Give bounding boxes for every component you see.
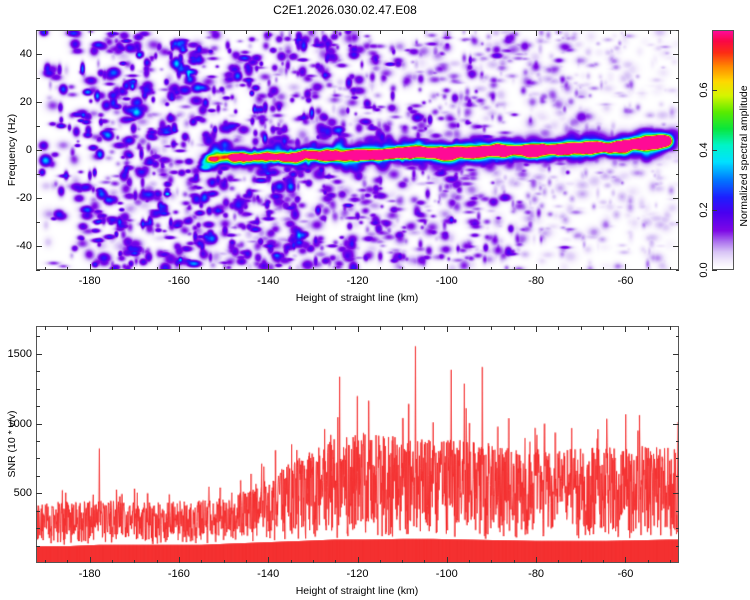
spectrogram-ylabel: Frequency (Hz) — [6, 114, 18, 186]
x-tick-minor — [402, 267, 403, 271]
x-tick-minor-top — [67, 30, 68, 34]
x-tick-minor-top — [134, 30, 135, 34]
y-tick-minor-right — [676, 476, 680, 477]
y-tick-major-right — [673, 246, 679, 247]
y-tick-minor — [36, 406, 40, 407]
x-tick-major — [625, 557, 626, 563]
snr-panel — [36, 326, 679, 563]
y-tick-minor — [36, 441, 40, 442]
x-tick-label: -140 — [257, 568, 279, 580]
x-tick-minor-top — [581, 30, 582, 34]
x-tick-minor-top — [67, 326, 68, 330]
colorbar-label: Normalized spectral amplitude — [738, 85, 750, 226]
figure-root: C2E1.2026.030.02.47.E08 -180-160-140-120… — [0, 0, 750, 600]
colorbar-tick-label: 0.2 — [698, 202, 710, 217]
x-tick-minor-top — [670, 326, 671, 330]
x-tick-minor — [469, 267, 470, 271]
x-tick-minor-top — [558, 326, 559, 330]
x-tick-minor-top — [201, 30, 202, 34]
x-tick-minor — [45, 560, 46, 564]
x-tick-minor — [112, 560, 113, 564]
x-tick-minor-top — [291, 30, 292, 34]
x-tick-minor-top — [670, 30, 671, 34]
y-tick-minor — [36, 30, 40, 31]
x-tick-minor-top — [514, 30, 515, 34]
x-tick-minor — [648, 267, 649, 271]
x-tick-label: -60 — [617, 275, 633, 287]
y-tick-minor-right — [676, 270, 680, 271]
x-tick-label: -120 — [346, 275, 368, 287]
snr-ylabel: SNR (10 * v/v) — [6, 410, 18, 477]
x-tick-label: -100 — [436, 275, 458, 287]
x-tick-minor — [291, 267, 292, 271]
x-tick-minor — [603, 267, 604, 271]
colorbar-tick-label: 0.6 — [698, 82, 710, 97]
y-tick-major — [36, 354, 42, 355]
colorbar-tick — [712, 150, 717, 151]
x-tick-minor — [224, 560, 225, 564]
x-tick-major — [536, 557, 537, 563]
x-tick-major — [268, 557, 269, 563]
x-tick-minor — [491, 560, 492, 564]
x-tick-minor-top — [648, 326, 649, 330]
x-tick-major — [625, 264, 626, 270]
x-tick-minor — [224, 267, 225, 271]
y-tick-major-right — [673, 354, 679, 355]
x-tick-minor-top — [224, 326, 225, 330]
y-tick-minor-right — [676, 30, 680, 31]
x-tick-minor-top — [112, 326, 113, 330]
x-tick-major — [536, 264, 537, 270]
y-tick-minor — [36, 270, 40, 271]
y-tick-minor — [36, 389, 40, 390]
y-tick-minor — [36, 546, 40, 547]
y-tick-major — [36, 102, 42, 103]
y-tick-minor-right — [676, 441, 680, 442]
x-tick-minor-top — [603, 326, 604, 330]
x-tick-minor — [424, 267, 425, 271]
x-tick-major-top — [90, 326, 91, 332]
x-tick-minor — [157, 560, 158, 564]
x-tick-minor — [558, 267, 559, 271]
x-tick-major-top — [268, 30, 269, 36]
x-tick-major — [90, 264, 91, 270]
y-tick-minor-right — [676, 126, 680, 127]
x-tick-minor — [157, 267, 158, 271]
x-tick-major-top — [179, 30, 180, 36]
x-tick-minor-top — [313, 30, 314, 34]
x-tick-minor-top — [424, 326, 425, 330]
x-tick-minor — [581, 267, 582, 271]
y-tick-minor — [36, 222, 40, 223]
x-tick-minor-top — [45, 326, 46, 330]
x-tick-minor-top — [603, 30, 604, 34]
x-tick-minor — [134, 560, 135, 564]
snr-trace — [37, 327, 678, 562]
x-tick-minor-top — [514, 326, 515, 330]
colorbar-tick — [712, 270, 717, 271]
y-tick-minor-right — [676, 78, 680, 79]
x-tick-minor — [67, 267, 68, 271]
x-tick-major — [447, 264, 448, 270]
x-tick-major-top — [179, 326, 180, 332]
x-tick-minor — [246, 267, 247, 271]
x-tick-label: -160 — [168, 275, 190, 287]
x-tick-minor — [603, 560, 604, 564]
x-tick-major-top — [536, 30, 537, 36]
x-tick-label: -160 — [168, 568, 190, 580]
spectrogram-image — [37, 31, 678, 269]
x-tick-minor-top — [380, 326, 381, 330]
x-tick-label: -180 — [79, 568, 101, 580]
x-tick-minor-top — [201, 326, 202, 330]
x-tick-minor — [670, 267, 671, 271]
y-tick-label: -20 — [4, 192, 32, 204]
y-tick-major — [36, 198, 42, 199]
y-tick-major-right — [673, 493, 679, 494]
y-tick-minor-right — [676, 389, 680, 390]
x-tick-minor — [380, 267, 381, 271]
y-tick-minor — [36, 78, 40, 79]
y-tick-major — [36, 424, 42, 425]
y-tick-major — [36, 246, 42, 247]
x-tick-label: -180 — [79, 275, 101, 287]
x-tick-major-top — [90, 30, 91, 36]
y-tick-minor-right — [676, 546, 680, 547]
y-tick-minor — [36, 528, 40, 529]
y-tick-label: 20 — [4, 96, 32, 108]
y-tick-minor-right — [676, 222, 680, 223]
x-tick-major — [179, 264, 180, 270]
x-tick-minor-top — [45, 30, 46, 34]
y-tick-minor — [36, 371, 40, 372]
x-tick-minor-top — [491, 326, 492, 330]
x-tick-minor-top — [112, 30, 113, 34]
y-tick-major — [36, 493, 42, 494]
x-tick-minor — [380, 560, 381, 564]
x-tick-label: -140 — [257, 275, 279, 287]
x-tick-minor-top — [469, 326, 470, 330]
y-tick-major-right — [673, 102, 679, 103]
x-tick-minor-top — [224, 30, 225, 34]
x-tick-minor — [112, 267, 113, 271]
x-tick-minor-top — [380, 30, 381, 34]
x-tick-major-top — [625, 30, 626, 36]
colorbar-tick-label: 0.0 — [698, 262, 710, 277]
x-tick-minor — [313, 560, 314, 564]
x-tick-minor — [670, 560, 671, 564]
x-tick-minor — [558, 560, 559, 564]
x-tick-major — [179, 557, 180, 563]
x-tick-minor — [67, 560, 68, 564]
x-tick-major — [447, 557, 448, 563]
y-tick-major-right — [673, 198, 679, 199]
y-tick-label: -40 — [4, 240, 32, 252]
x-tick-minor-top — [246, 326, 247, 330]
x-tick-major-top — [268, 326, 269, 332]
y-tick-minor — [36, 511, 40, 512]
x-tick-major — [90, 557, 91, 563]
x-tick-minor-top — [402, 326, 403, 330]
x-tick-minor-top — [424, 30, 425, 34]
x-tick-major-top — [447, 30, 448, 36]
x-tick-minor-top — [246, 30, 247, 34]
y-tick-major — [36, 150, 42, 151]
x-tick-major-top — [358, 30, 359, 36]
x-tick-minor — [648, 560, 649, 564]
x-tick-minor-top — [335, 30, 336, 34]
y-tick-label: 40 — [4, 48, 32, 60]
x-tick-minor — [313, 267, 314, 271]
y-tick-minor-right — [676, 511, 680, 512]
x-tick-minor-top — [291, 326, 292, 330]
x-tick-major — [358, 557, 359, 563]
y-tick-minor — [36, 336, 40, 337]
y-tick-minor-right — [676, 174, 680, 175]
x-tick-minor — [335, 560, 336, 564]
y-tick-minor — [36, 126, 40, 127]
x-tick-minor — [469, 560, 470, 564]
x-tick-label: -120 — [346, 568, 368, 580]
x-tick-minor — [201, 267, 202, 271]
snr-xlabel: Height of straight line (km) — [296, 585, 419, 597]
y-tick-major — [36, 54, 42, 55]
y-tick-minor — [36, 476, 40, 477]
y-tick-minor-right — [676, 371, 680, 372]
y-tick-major-right — [673, 150, 679, 151]
x-tick-label: -100 — [436, 568, 458, 580]
x-tick-major-top — [358, 326, 359, 332]
x-tick-minor — [201, 560, 202, 564]
colorbar-tick-label: 0.4 — [698, 142, 710, 157]
x-tick-minor — [246, 560, 247, 564]
y-tick-major-right — [673, 54, 679, 55]
x-tick-minor — [514, 560, 515, 564]
x-tick-minor — [491, 267, 492, 271]
x-tick-minor-top — [157, 30, 158, 34]
x-tick-minor — [291, 560, 292, 564]
figure-title: C2E1.2026.030.02.47.E08 — [0, 3, 690, 17]
x-tick-major-top — [536, 326, 537, 332]
x-tick-minor — [402, 560, 403, 564]
y-tick-minor-right — [676, 406, 680, 407]
y-tick-label: 500 — [4, 487, 32, 499]
x-tick-major — [268, 264, 269, 270]
y-tick-label: 1500 — [4, 348, 32, 360]
x-tick-minor-top — [157, 326, 158, 330]
x-tick-major-top — [625, 326, 626, 332]
x-tick-minor-top — [648, 30, 649, 34]
y-tick-minor — [36, 458, 40, 459]
x-tick-minor — [514, 267, 515, 271]
x-tick-major-top — [447, 326, 448, 332]
x-tick-minor-top — [581, 326, 582, 330]
x-tick-major — [358, 264, 359, 270]
x-tick-label: -80 — [528, 568, 544, 580]
x-tick-minor-top — [469, 30, 470, 34]
x-tick-minor — [581, 560, 582, 564]
x-tick-minor-top — [313, 326, 314, 330]
y-tick-minor-right — [676, 528, 680, 529]
x-tick-minor-top — [134, 326, 135, 330]
y-tick-minor-right — [676, 458, 680, 459]
spectrogram-panel — [36, 30, 679, 270]
x-tick-minor-top — [402, 30, 403, 34]
x-tick-minor-top — [491, 30, 492, 34]
colorbar-tick — [712, 210, 717, 211]
colorbar-tick — [712, 90, 717, 91]
y-tick-major-right — [673, 424, 679, 425]
x-tick-minor-top — [558, 30, 559, 34]
x-tick-minor-top — [335, 326, 336, 330]
x-tick-minor — [45, 267, 46, 271]
spectrogram-xlabel: Height of straight line (km) — [296, 292, 419, 304]
x-tick-label: -60 — [617, 568, 633, 580]
x-tick-minor — [335, 267, 336, 271]
y-tick-minor — [36, 174, 40, 175]
x-tick-label: -80 — [528, 275, 544, 287]
x-tick-minor — [424, 560, 425, 564]
y-tick-minor-right — [676, 336, 680, 337]
x-tick-minor — [134, 267, 135, 271]
